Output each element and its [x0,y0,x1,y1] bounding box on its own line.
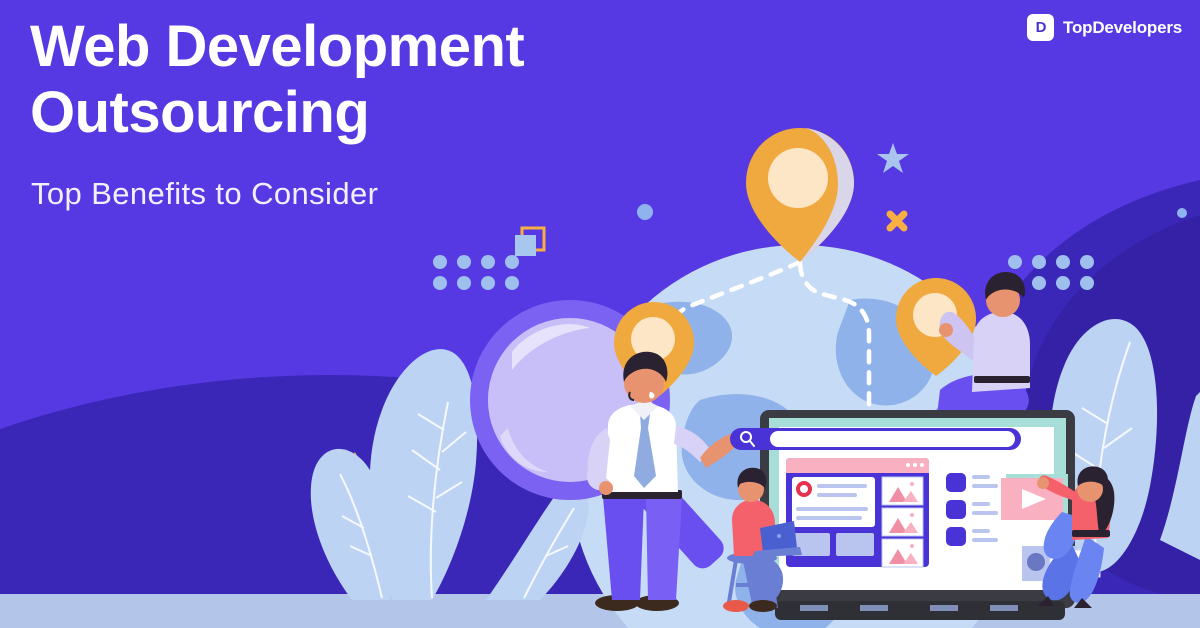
banner-root: Web Development Outsourcing Top Benefits… [0,0,1200,628]
page-title: Web Development Outsourcing [30,14,730,146]
topdevelopers-logo-icon: D [1027,14,1054,41]
brand-name: TopDevelopers [1063,18,1182,38]
page-subtitle: Top Benefits to Consider [31,176,378,212]
brand-logo[interactable]: D TopDevelopers [1027,14,1182,41]
